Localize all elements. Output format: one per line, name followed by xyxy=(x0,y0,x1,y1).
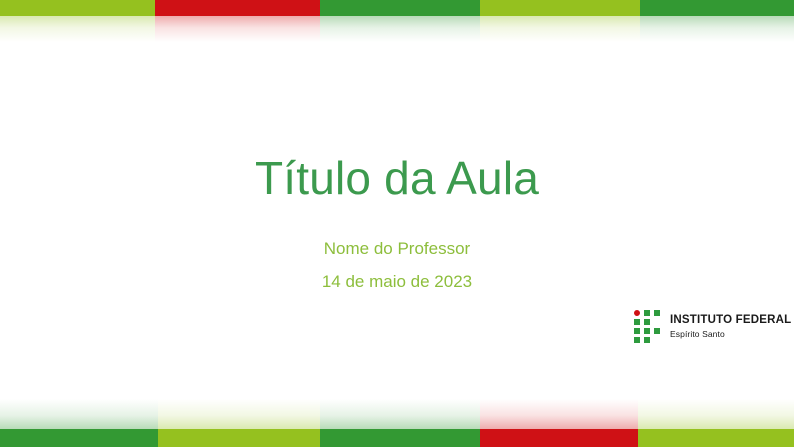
ifes-logo-square-icon xyxy=(654,310,660,316)
color-bar-segment xyxy=(480,0,640,16)
color-bar-segment xyxy=(640,0,794,16)
color-bar-segment xyxy=(320,0,480,16)
ifes-logo-square-icon xyxy=(644,328,650,334)
presenter-name: Nome do Professor xyxy=(0,240,794,257)
color-bar-segment xyxy=(638,399,794,429)
color-bar-segment xyxy=(0,429,158,447)
color-bar-segment xyxy=(638,429,794,447)
color-bar-segment xyxy=(155,0,320,16)
page-title: Título da Aula xyxy=(0,152,794,205)
ifes-logo-square-icon xyxy=(644,310,650,316)
color-bar-segment xyxy=(155,16,320,42)
color-bar-segment xyxy=(480,399,638,429)
ifes-logo: INSTITUTO FEDERAL Espírito Santo xyxy=(634,310,791,343)
top-color-bar xyxy=(0,0,794,16)
color-bar-segment xyxy=(320,16,480,42)
color-bar-segment xyxy=(0,399,158,429)
ifes-logo-square-icon xyxy=(634,319,640,325)
color-bar-segment xyxy=(640,16,794,42)
color-bar-segment xyxy=(0,0,155,16)
ifes-logo-sub-text: Espírito Santo xyxy=(670,330,791,339)
color-bar-segment xyxy=(480,429,638,447)
ifes-logo-main-text: INSTITUTO FEDERAL xyxy=(670,315,791,327)
ifes-logo-square-icon xyxy=(634,337,640,343)
subtitle-block: Nome do Professor 14 de maio de 2023 xyxy=(0,240,794,290)
presentation-slide: Título da Aula Nome do Professor 14 de m… xyxy=(0,0,794,447)
presentation-date: 14 de maio de 2023 xyxy=(0,273,794,290)
ifes-logo-square-icon xyxy=(644,337,650,343)
ifes-logo-square-icon xyxy=(644,319,650,325)
bottom-color-bar xyxy=(0,429,794,447)
color-bar-segment xyxy=(320,399,480,429)
ifes-logo-dot-icon xyxy=(634,310,641,317)
ifes-logo-square-icon xyxy=(634,328,640,334)
ifes-logo-mark-icon xyxy=(634,310,661,343)
bottom-color-bar-glow xyxy=(0,399,794,429)
ifes-logo-text: INSTITUTO FEDERAL Espírito Santo xyxy=(670,315,791,338)
color-bar-segment xyxy=(0,16,155,42)
color-bar-segment xyxy=(320,429,480,447)
top-color-bar-glow xyxy=(0,16,794,42)
color-bar-segment xyxy=(480,16,640,42)
ifes-logo-square-icon xyxy=(654,328,660,334)
color-bar-segment xyxy=(158,399,320,429)
color-bar-segment xyxy=(158,429,320,447)
